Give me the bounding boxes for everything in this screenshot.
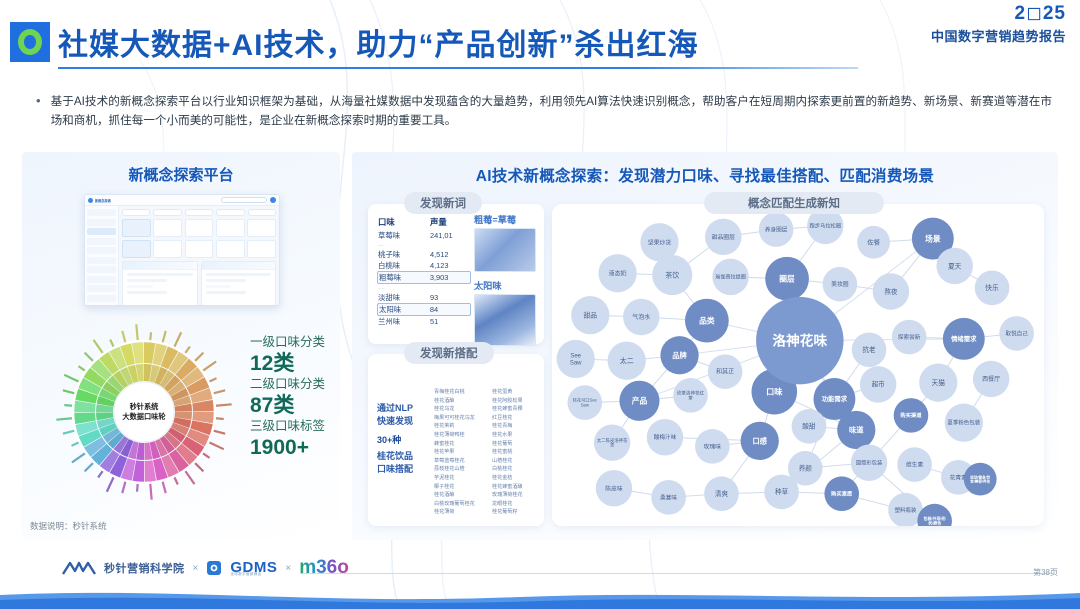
pair-list-item: 桂花蛋黄 xyxy=(492,388,540,397)
mock-card[interactable] xyxy=(247,240,276,258)
graph-node-label: 天猫 xyxy=(932,378,946,387)
sunburst-tick xyxy=(216,404,232,405)
concept-graph-card: 坚果炒货甜品圈层养身圈层跑步马拉松圈佐餐场景液态奶茶饮瑜伽普拉提圈圈层美妆圈熬夜… xyxy=(552,204,1044,526)
graph-node-label: 坚果炒货 xyxy=(648,238,671,246)
th-flavor: 口味 xyxy=(378,216,430,228)
graph-node-label: Saw xyxy=(581,402,590,407)
graph-node[interactable]: 茶饮 xyxy=(652,255,692,295)
graph-node[interactable]: 清爽 xyxy=(704,476,739,511)
graph-node-label: 茶 xyxy=(688,394,693,400)
graph-node-label: 快乐 xyxy=(985,283,999,292)
table-row: 兰州味 51 xyxy=(378,316,470,327)
mock-card[interactable] xyxy=(185,240,214,258)
sunburst-tick xyxy=(185,471,194,484)
graph-node-label: 液态奶 xyxy=(609,269,627,277)
mock-sidebar-item[interactable] xyxy=(87,276,116,283)
cell-volume: 93 xyxy=(430,292,470,303)
cell-flavor: 草莓味 xyxy=(378,230,430,241)
graph-node[interactable]: 玫瑰味 xyxy=(695,429,730,464)
left-panel: 新概念探索平台 新概念探索 xyxy=(22,152,340,540)
mock-body xyxy=(85,206,279,306)
mock-main-area xyxy=(119,206,279,306)
graph-node-label: 夏天 xyxy=(948,262,962,270)
pair-list-item: 龙眼桂花 xyxy=(492,500,540,509)
graph-node[interactable]: 桑葚味 xyxy=(651,480,686,515)
table-row-highlighted: 太阳味 84 xyxy=(377,303,471,316)
sunburst-tick xyxy=(85,353,93,361)
graph-node-label: 酸梅汁味 xyxy=(654,433,677,441)
graph-node-label: 和其正 xyxy=(716,368,734,376)
intro-bullet-block: • 基于AI技术的新概念探索平台以行业知识框架为基础，从海量社媒数据中发现蕴含的… xyxy=(36,92,1052,130)
graph-node-label: 购买意愿 xyxy=(831,490,853,498)
graph-node[interactable]: 桂花可口See Saw xyxy=(567,385,602,420)
graph-node-label: 品类 xyxy=(699,315,715,325)
partner-3-name: m36o xyxy=(299,557,349,579)
pair-list-item: 桂花葡萄 xyxy=(492,440,540,449)
pair-list-item: 青梅桂花白桃 xyxy=(434,388,482,397)
sunburst-tick xyxy=(110,339,113,346)
mock-sidebar-item[interactable] xyxy=(87,285,116,292)
graph-node-label: 气泡水 xyxy=(632,313,650,321)
sunburst-center-line2: 大数据口味轮 xyxy=(122,412,166,421)
pair-list-item: 桂花乌龙 xyxy=(434,405,482,414)
partner-1-name: 秒针营销科学院 xyxy=(104,560,185,576)
sunburst-tick xyxy=(85,463,93,471)
mock-sidebar[interactable] xyxy=(85,206,119,306)
mock-sidebar-item[interactable] xyxy=(87,247,116,254)
mock-card[interactable] xyxy=(122,240,151,258)
graph-node-label: 美妆圈 xyxy=(831,280,849,288)
pair-list-item: 白桃玫瑰葡萄桂花 xyxy=(434,500,482,509)
chip-new-pair: 发现新搭配 xyxy=(404,342,494,364)
graph-node-label: 购买渠道 xyxy=(900,411,922,419)
pair-list-item: 桂花葡萄籽 xyxy=(492,508,540,517)
mock-card[interactable] xyxy=(216,240,245,258)
pair-list-item: 玫瑰薄荷桂花 xyxy=(492,491,540,500)
miaozhen-logo-icon xyxy=(62,560,96,576)
table-row: 桃子味 4,512 xyxy=(378,249,470,260)
sunburst-center-line1: 秒针系统 xyxy=(130,402,160,411)
graph-node[interactable]: 酸甜 xyxy=(792,409,827,444)
separator-x-1: × xyxy=(193,563,199,574)
sunburst-tick xyxy=(150,484,151,500)
mock-sidebar-item[interactable] xyxy=(87,219,116,226)
table-header-row: 口味 声量 xyxy=(378,216,470,228)
graph-node[interactable]: 快乐 xyxy=(975,271,1010,306)
mock-filter-chip[interactable] xyxy=(122,209,150,216)
graph-node-label: 状/颜色 xyxy=(928,520,941,526)
cell-volume: 4,512 xyxy=(430,249,470,260)
graph-node[interactable]: 购买渠道 xyxy=(894,398,929,433)
graph-node[interactable]: 西餐厅 xyxy=(973,361,1009,397)
stat-value-2: 87类 xyxy=(250,393,325,418)
ring-logo-icon xyxy=(10,22,50,62)
data-source-note: 数据说明：秒针系统 xyxy=(30,520,107,532)
mock-search-input[interactable] xyxy=(221,197,267,203)
concept-network-graph: 坚果炒货甜品圈层养身圈层跑步马拉松圈佐餐场景液态奶茶饮瑜伽普拉提圈圈层美妆圈熬夜… xyxy=(552,204,1044,526)
row-ellipsis: ... xyxy=(378,284,470,292)
mock-sidebar-item[interactable] xyxy=(87,295,116,302)
graph-node[interactable]: 气泡水 xyxy=(623,299,659,335)
mock-filter-chip[interactable] xyxy=(153,209,181,216)
evidence-caption-2: 太阳味 xyxy=(474,278,536,292)
graph-node[interactable]: 超市 xyxy=(860,366,896,402)
sunburst-tick xyxy=(64,375,79,382)
pair-list-item: 桂花蜜桃 xyxy=(492,448,540,457)
graph-node[interactable]: 甜品圈层 xyxy=(705,219,741,255)
graph-node-label: 养身圈层 xyxy=(765,225,788,233)
graph-node-label: 情绪需求 xyxy=(950,334,977,343)
graph-node[interactable]: 陈皮味 xyxy=(596,470,632,506)
intro-paragraph: 基于AI技术的新概念探索平台以行业知识框架为基础，从海量社媒数据中发现蕴含的大量… xyxy=(51,92,1052,130)
mock-detail-panes xyxy=(122,261,276,306)
graph-node[interactable]: 味道 xyxy=(837,411,875,449)
graph-node-label: 功能需求 xyxy=(822,394,848,403)
graph-node-label: 洛神花味 xyxy=(773,332,828,348)
mock-card[interactable] xyxy=(185,219,214,237)
table-row: 草莓味 241,01 xyxy=(378,230,470,241)
cell-volume: 241,01 xyxy=(430,230,470,241)
mock-filter-bar[interactable] xyxy=(122,209,276,216)
sunburst-tick xyxy=(122,482,125,494)
graph-node[interactable]: 太二陈皮洛神花茶 xyxy=(594,424,630,460)
right-panel-title: AI技术新概念探索：发现潜力口味、寻找最佳搭配、匹配消费场景 xyxy=(352,164,1058,186)
mock-card-grid xyxy=(122,219,276,258)
row-ellipsis: ... xyxy=(378,241,470,249)
sunburst-tick xyxy=(63,390,75,393)
pair-list-item: 桂花蜂蜜青稞 xyxy=(492,405,540,414)
graph-node[interactable]: 种草 xyxy=(764,475,799,510)
graph-node-label: See xyxy=(570,354,581,360)
sunburst-tick xyxy=(163,331,166,343)
flavor-wheel-sunburst: 秒针系统 大数据口味轮 xyxy=(44,312,244,512)
mock-card[interactable] xyxy=(247,219,276,237)
mock-filter-chip[interactable] xyxy=(185,209,213,216)
evidence-images: 粗莓=草莓 太阳味 xyxy=(474,212,536,346)
cell-volume: 84 xyxy=(430,304,469,315)
footer-divider xyxy=(300,573,1054,574)
graph-node-label: 茶 xyxy=(610,442,615,448)
report-name: 中国数字营销趋势报告 xyxy=(931,26,1066,45)
graph-node-label: 食/美容/养生 xyxy=(970,478,991,483)
table-row: 淡甜味 93 xyxy=(378,292,470,303)
graph-node-label: 陈皮味 xyxy=(605,484,623,492)
graph-node[interactable]: 佐餐 xyxy=(857,226,890,259)
stat-label-3: 三级口味标签 xyxy=(250,418,325,435)
graph-node[interactable]: 液态奶 xyxy=(598,254,636,292)
cell-volume: 51 xyxy=(430,316,470,327)
pair-list-item: 桂花薄荷 xyxy=(434,508,482,517)
graph-node-label: 取悦自己 xyxy=(1005,329,1028,337)
nlp-line-4: 口味搭配 xyxy=(377,463,429,476)
right-panel: AI技术新概念探索：发现潜力口味、寻找最佳搭配、匹配消费场景 发现新词 概念匹配… xyxy=(352,152,1058,540)
sunburst-tick xyxy=(63,431,75,434)
sunburst-tick xyxy=(137,484,138,492)
mock-card[interactable] xyxy=(216,219,245,237)
pair-list-column-b: 桂花蛋黄桂花阿胶松果桂花蜂蜜青稞红豆桂花桂花青梅桂花水果桂花葡萄桂花蜜桃山楂桂花… xyxy=(492,388,540,517)
sunburst-tick xyxy=(185,346,190,353)
graph-node-label: 茶饮 xyxy=(665,270,679,279)
mock-card[interactable] xyxy=(153,219,182,237)
mock-app-title: 新概念探索 xyxy=(95,198,111,203)
mock-detail-pane[interactable] xyxy=(201,261,277,306)
footer-wave-decoration xyxy=(0,587,1080,609)
pair-list-item: 白桃桂花 xyxy=(492,465,540,474)
partner-logos: 秒针营销科学院 × GDMS 全球数字营销峰会 × m36o xyxy=(62,557,349,579)
sunburst-tick xyxy=(56,418,72,419)
sunburst-tick xyxy=(209,442,224,449)
graph-node-label: 佐餐 xyxy=(867,238,880,247)
graph-node[interactable]: 探索尝新 xyxy=(892,320,927,355)
sunburst-tick xyxy=(163,482,166,494)
flavor-volume-table: 口味 声量 草莓味 241,01 ... 桃子味 4,512 白桃味 4,123 xyxy=(378,216,470,327)
mock-titlebar: 新概念探索 xyxy=(85,195,279,206)
mock-filter-chip[interactable] xyxy=(216,209,244,216)
sunburst-tick xyxy=(78,366,85,371)
graph-node-label: 甜品圈层 xyxy=(712,233,735,241)
pair-list-item: 桂花青梅 xyxy=(492,422,540,431)
stat-label-2: 二级口味分类 xyxy=(250,376,325,393)
graph-node-label: 种草 xyxy=(775,487,789,496)
pair-list-item: 桂花水果 xyxy=(492,431,540,440)
graph-node-label: 味道 xyxy=(849,426,864,435)
nlp-line-2: 快速发现 xyxy=(377,415,429,428)
chip-concept-graph: 概念匹配生成新知 xyxy=(704,192,884,214)
sunburst-tick xyxy=(216,418,224,419)
gdms-mark-icon xyxy=(206,560,222,576)
graph-node-label: 超市 xyxy=(872,380,886,389)
evidence-caption-1: 粗莓=草莓 xyxy=(474,212,536,226)
graph-node-label: 探索尝新 xyxy=(898,333,921,341)
sunburst-tick xyxy=(209,378,216,381)
cell-flavor: 兰州味 xyxy=(378,316,430,327)
pair-list-item: 桂花茉莉 xyxy=(434,422,482,431)
graph-node[interactable]: 品牌 xyxy=(660,336,698,374)
pair-list-item: 椰子桂花 xyxy=(434,483,482,492)
graph-node-label: 酸甜 xyxy=(802,422,816,431)
stat-value-1: 12类 xyxy=(250,351,325,376)
sunburst-tick xyxy=(64,405,72,406)
left-panel-title: 新概念探索平台 xyxy=(22,164,340,185)
pair-list-item: 桂花苹果 xyxy=(434,448,482,457)
mock-card[interactable] xyxy=(122,219,151,237)
sunburst-tick xyxy=(195,353,203,361)
title-underline xyxy=(58,67,858,69)
stat-value-3: 1900+ xyxy=(250,435,325,460)
partner-2-subtitle: 全球数字营销峰会 xyxy=(230,573,277,577)
slide-header: 社媒大数据+AI技术，助力“产品创新”杀出红海 2◻25 中国数字营销趋势报告 xyxy=(0,0,1080,82)
pair-list-item: 草莓蓝莓桂花 xyxy=(434,457,482,466)
mock-sidebar-item[interactable] xyxy=(87,257,116,264)
cell-flavor: 淡甜味 xyxy=(378,292,430,303)
graph-node-label: 养颜 xyxy=(799,464,813,473)
chip-new-word: 发现新词 xyxy=(404,192,482,214)
pair-list-item: 桂花薄荷鸭桂 xyxy=(434,431,482,440)
page-number: 第38页 xyxy=(1033,567,1058,578)
graph-node[interactable]: 太二 xyxy=(608,342,646,380)
graph-node[interactable]: 运动/健身/饮食/美容/养生 xyxy=(964,463,997,496)
sunburst-tick xyxy=(122,331,125,343)
nlp-line-3: 桂花饮品 xyxy=(377,450,429,463)
sunburst-tick xyxy=(214,390,226,393)
graph-node[interactable]: 夏季粉色包装 xyxy=(945,404,983,442)
graph-node-label: 场景 xyxy=(925,233,941,243)
flavor-stats: 一级口味分类 12类 二级口味分类 87类 三级口味标签 1900+ xyxy=(250,334,325,460)
sunburst-tick xyxy=(174,477,177,484)
new-pair-card: 通过NLP 快速发现 30+种 桂花饮品 口味搭配 青梅桂花白桃桂花酒酿桂花乌龙… xyxy=(368,354,544,526)
sunburst-tick xyxy=(107,477,114,492)
pair-list-item: 桂花金桔 xyxy=(492,474,540,483)
separator-x-2: × xyxy=(285,563,291,574)
graph-node[interactable]: 酸梅汁味 xyxy=(647,419,683,455)
pair-list-column-a: 青梅桂花白桃桂花酒酿桂花乌龙梅果可可桂花乌龙桂花茉莉桂花薄荷鸭桂蜂蜜桂花桂花苹果… xyxy=(434,388,482,517)
mock-filter-chip[interactable] xyxy=(248,209,276,216)
graph-node[interactable]: SeeSaw xyxy=(557,340,595,378)
graph-node-label: 维生素 xyxy=(906,461,924,469)
graph-node[interactable]: 品类 xyxy=(685,299,729,343)
sunburst-tick xyxy=(214,431,226,434)
cell-volume: 4,123 xyxy=(430,260,470,271)
mock-sidebar-item[interactable] xyxy=(87,209,116,216)
mock-sidebar-item[interactable] xyxy=(87,266,116,273)
sunburst-tick xyxy=(203,362,216,371)
sunburst-tick xyxy=(94,340,103,353)
graph-node-label: 圈层 xyxy=(779,274,795,283)
mock-card[interactable] xyxy=(153,240,182,258)
cell-flavor: 粗莓味 xyxy=(379,272,430,283)
mock-sidebar-item[interactable] xyxy=(87,238,116,245)
pair-list-item: 红豆桂花 xyxy=(492,414,540,423)
pair-list-item: 芋泥桂花 xyxy=(434,474,482,483)
graph-node[interactable]: 夏天 xyxy=(936,248,972,284)
nlp-lead-text: 通过NLP 快速发现 30+种 桂花饮品 口味搭配 xyxy=(377,402,429,476)
graph-node[interactable]: 圆筒形包装 xyxy=(851,445,887,481)
graph-node-label: 甜品 xyxy=(584,311,598,320)
page-title: 社媒大数据+AI技术，助力“产品创新”杀出红海 xyxy=(58,20,699,64)
graph-node-label: Saw xyxy=(570,360,582,366)
graph-node[interactable]: 甜品 xyxy=(571,296,609,334)
graph-node-label: 抗老 xyxy=(863,345,877,354)
stat-label-1: 一级口味分类 xyxy=(250,334,325,351)
graph-node[interactable]: 玫茶洛神花红茶 xyxy=(673,378,708,413)
mock-sidebar-item[interactable] xyxy=(87,228,116,235)
sunburst-tick xyxy=(98,471,103,478)
graph-node[interactable]: 和其正 xyxy=(708,354,743,389)
graph-node-label: 西餐厅 xyxy=(982,375,1000,383)
mock-detail-pane[interactable] xyxy=(122,261,198,306)
pair-list-item: 荔枝桂花山楂 xyxy=(434,465,482,474)
graph-node-label: 太二 xyxy=(620,356,634,365)
graph-node[interactable]: 情绪需求 xyxy=(943,318,985,360)
sunburst-tick xyxy=(174,332,181,347)
platform-screenshot-mock[interactable]: 新概念探索 xyxy=(84,194,280,306)
th-volume: 声量 xyxy=(430,216,470,228)
slide-root: 社媒大数据+AI技术，助力“产品创新”杀出红海 2◻25 中国数字营销趋势报告 … xyxy=(0,0,1080,609)
graph-node[interactable]: 产品 xyxy=(619,381,659,421)
graph-node[interactable]: 抗老 xyxy=(852,332,887,367)
graph-node-label: 圆筒形包装 xyxy=(856,459,883,467)
pair-list-item: 桂花蜂蜜酒酿 xyxy=(492,483,540,492)
pair-list-item: 桂花酒酿 xyxy=(434,491,482,500)
graph-node[interactable]: 养身圈层 xyxy=(759,212,794,247)
graph-node-label: 口味 xyxy=(766,387,783,397)
graph-node-label: 品牌 xyxy=(672,351,687,360)
table-row-highlighted: 粗莓味 3,903 xyxy=(377,271,471,284)
graph-node[interactable]: 圈层 xyxy=(765,257,809,301)
cell-flavor: 白桃味 xyxy=(378,260,430,271)
graph-node-label: 跑步马拉松圈 xyxy=(810,222,842,230)
graph-node-label: 塑料瓶装 xyxy=(895,506,917,514)
graph-node-label: 清爽 xyxy=(715,489,729,498)
mock-avatar[interactable] xyxy=(270,197,276,203)
graph-node[interactable]: 熬夜 xyxy=(873,273,909,309)
evidence-image-2 xyxy=(474,294,536,346)
graph-node-label: 玫瑰味 xyxy=(704,442,722,450)
bullet-marker: • xyxy=(36,92,41,130)
graph-node-label: 口感 xyxy=(752,436,767,445)
graph-node[interactable]: 天猫 xyxy=(919,363,957,401)
sunburst-tick xyxy=(195,463,203,471)
graph-node[interactable]: 维生素 xyxy=(897,447,932,482)
graph-node-label: 产品 xyxy=(632,396,648,406)
pair-list-item: 桂花酒酿 xyxy=(434,397,482,406)
nlp-line-1: 通过NLP xyxy=(377,402,429,415)
cell-flavor: 桃子味 xyxy=(378,249,430,260)
pair-list-item: 山楂桂花 xyxy=(492,457,540,466)
graph-node[interactable]: 瑜伽普拉提圈 xyxy=(712,259,748,295)
nlp-count: 30+种 xyxy=(377,428,429,450)
graph-node-label: 桑葚味 xyxy=(660,493,677,501)
sunburst-tick xyxy=(72,453,85,462)
evidence-image-1 xyxy=(474,228,536,272)
sunburst-tick xyxy=(136,324,137,340)
graph-node-label: 熬夜 xyxy=(884,287,898,296)
pair-list-columns: 青梅桂花白桃桂花酒酿桂花乌龙梅果可可桂花乌龙桂花茉莉桂花薄荷鸭桂蜂蜜桂花桂花苹果… xyxy=(434,388,540,517)
mock-app-logo-icon xyxy=(88,198,93,203)
report-year: 2◻25 xyxy=(1015,2,1066,25)
cell-volume: 3,903 xyxy=(430,272,469,283)
graph-node[interactable]: 购买意愿 xyxy=(824,476,859,511)
graph-node-label: 夏季粉色包装 xyxy=(947,419,980,427)
pair-list-item: 桂花阿胶松果 xyxy=(492,397,540,406)
cell-flavor: 太阳味 xyxy=(379,304,430,315)
sunburst-tick xyxy=(71,442,78,445)
new-word-card: 口味 声量 草莓味 241,01 ... 桃子味 4,512 白桃味 4,123 xyxy=(368,204,544,344)
table-row: 白桃味 4,123 xyxy=(378,260,470,271)
pair-list-item: 蜂蜜桂花 xyxy=(434,440,482,449)
sunburst-tick xyxy=(203,453,210,458)
graph-node-label: 瑜伽普拉提圈 xyxy=(715,274,746,281)
graph-node[interactable]: 取悦自己 xyxy=(999,316,1034,351)
graph-node[interactable]: 美妆圈 xyxy=(823,267,858,302)
sunburst-tick xyxy=(150,332,151,340)
graph-node[interactable]: 口感 xyxy=(741,422,779,460)
graph-node[interactable]: 洛神花味 xyxy=(756,297,843,384)
pair-list-item: 梅果可可桂花乌龙 xyxy=(434,414,482,423)
slide-footer: 秒针营销科学院 × GDMS 全球数字营销峰会 × m36o 第38页 xyxy=(0,549,1080,609)
